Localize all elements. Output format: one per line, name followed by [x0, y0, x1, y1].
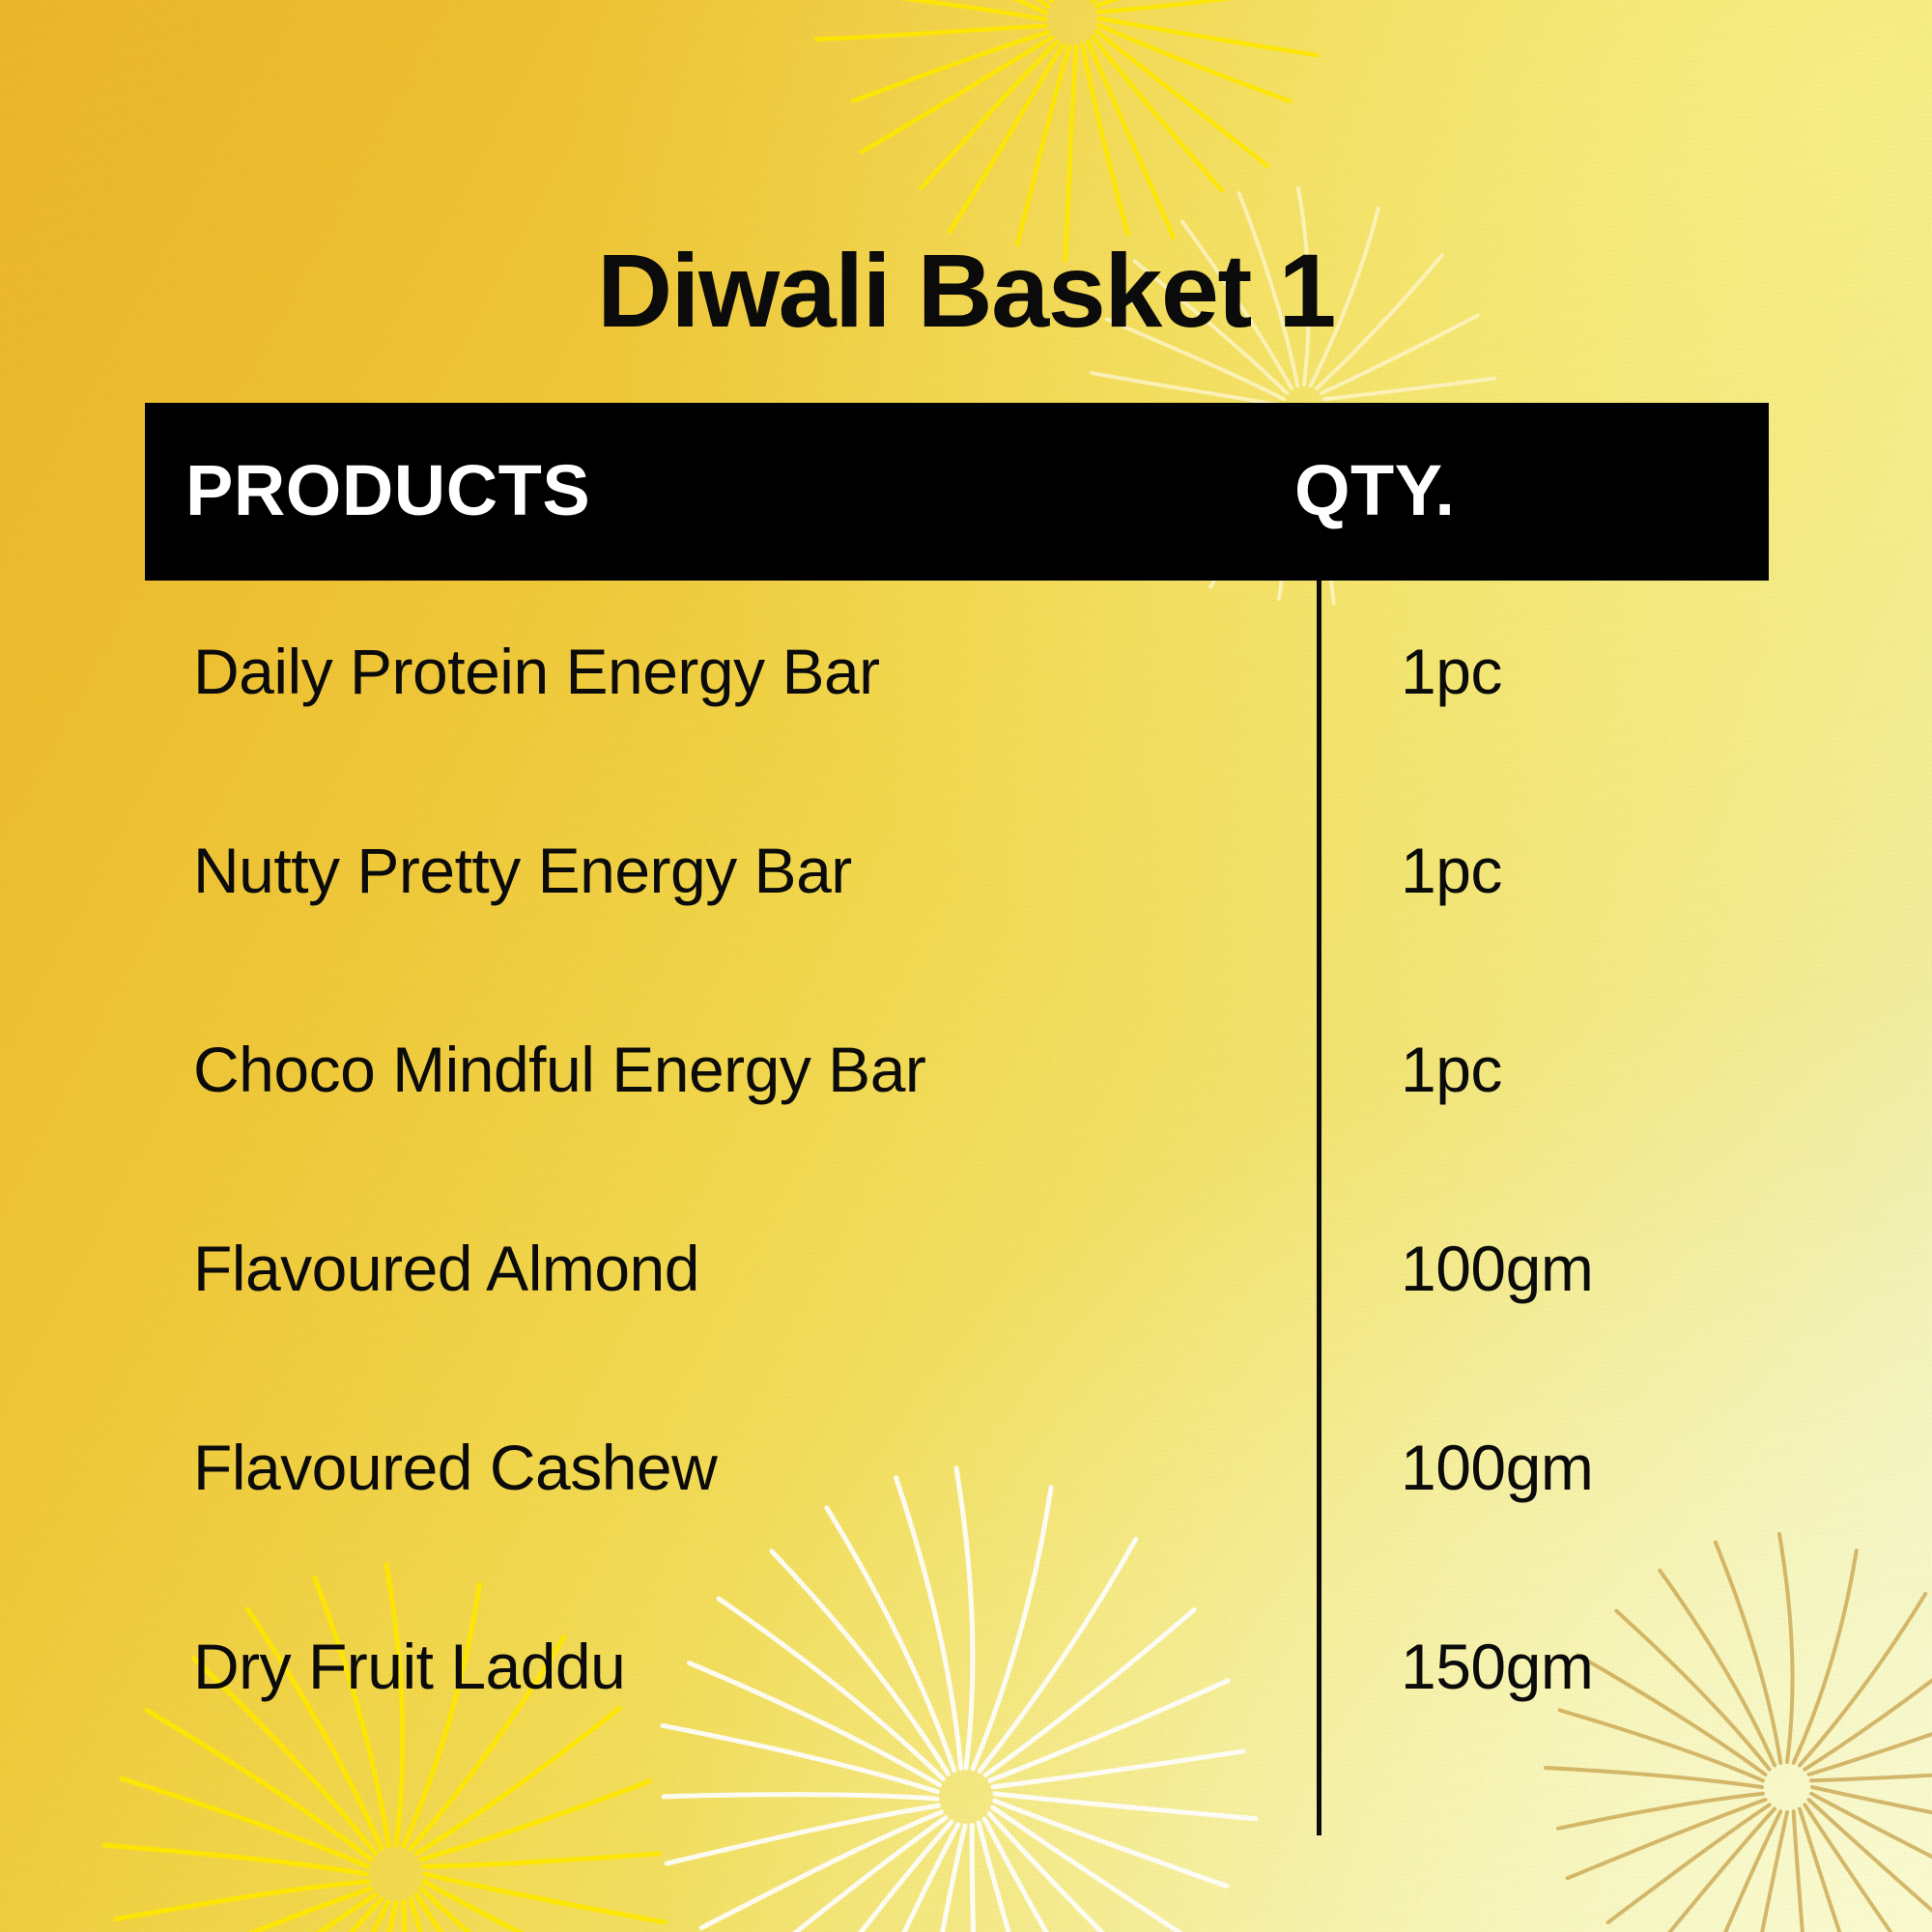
product-qty: 100gm — [1401, 1431, 1593, 1504]
product-qty: 150gm — [1401, 1630, 1593, 1703]
product-name: Dry Fruit Laddu — [193, 1630, 625, 1703]
page-title: Diwali Basket 1 — [0, 239, 1932, 343]
product-qty: 1pc — [1401, 635, 1502, 708]
product-qty: 100gm — [1401, 1232, 1593, 1305]
product-name: Daily Protein Energy Bar — [193, 635, 880, 708]
product-qty: 1pc — [1401, 1033, 1502, 1106]
table-row: Nutty Pretty Energy Bar 1pc — [0, 780, 1932, 979]
product-name: Flavoured Almond — [193, 1232, 699, 1305]
product-table-body: Daily Protein Energy Bar 1pc Nutty Prett… — [0, 581, 1932, 1775]
table-row: Flavoured Cashew 100gm — [0, 1377, 1932, 1576]
product-qty: 1pc — [1401, 834, 1502, 907]
product-name: Nutty Pretty Energy Bar — [193, 834, 852, 907]
product-name: Choco Mindful Energy Bar — [193, 1033, 925, 1106]
table-header-bar: PRODUCTS QTY. — [145, 403, 1769, 581]
table-row: Daily Protein Energy Bar 1pc — [0, 581, 1932, 780]
table-row: Flavoured Almond 100gm — [0, 1178, 1932, 1377]
diwali-basket-poster: Diwali Basket 1 PRODUCTS QTY. Daily Prot… — [0, 0, 1932, 1932]
table-row: Choco Mindful Energy Bar 1pc — [0, 979, 1932, 1178]
column-header-products: PRODUCTS — [185, 449, 590, 531]
table-row: Dry Fruit Laddu 150gm — [0, 1576, 1932, 1775]
product-name: Flavoured Cashew — [193, 1431, 717, 1504]
column-header-qty: QTY. — [1294, 449, 1455, 531]
